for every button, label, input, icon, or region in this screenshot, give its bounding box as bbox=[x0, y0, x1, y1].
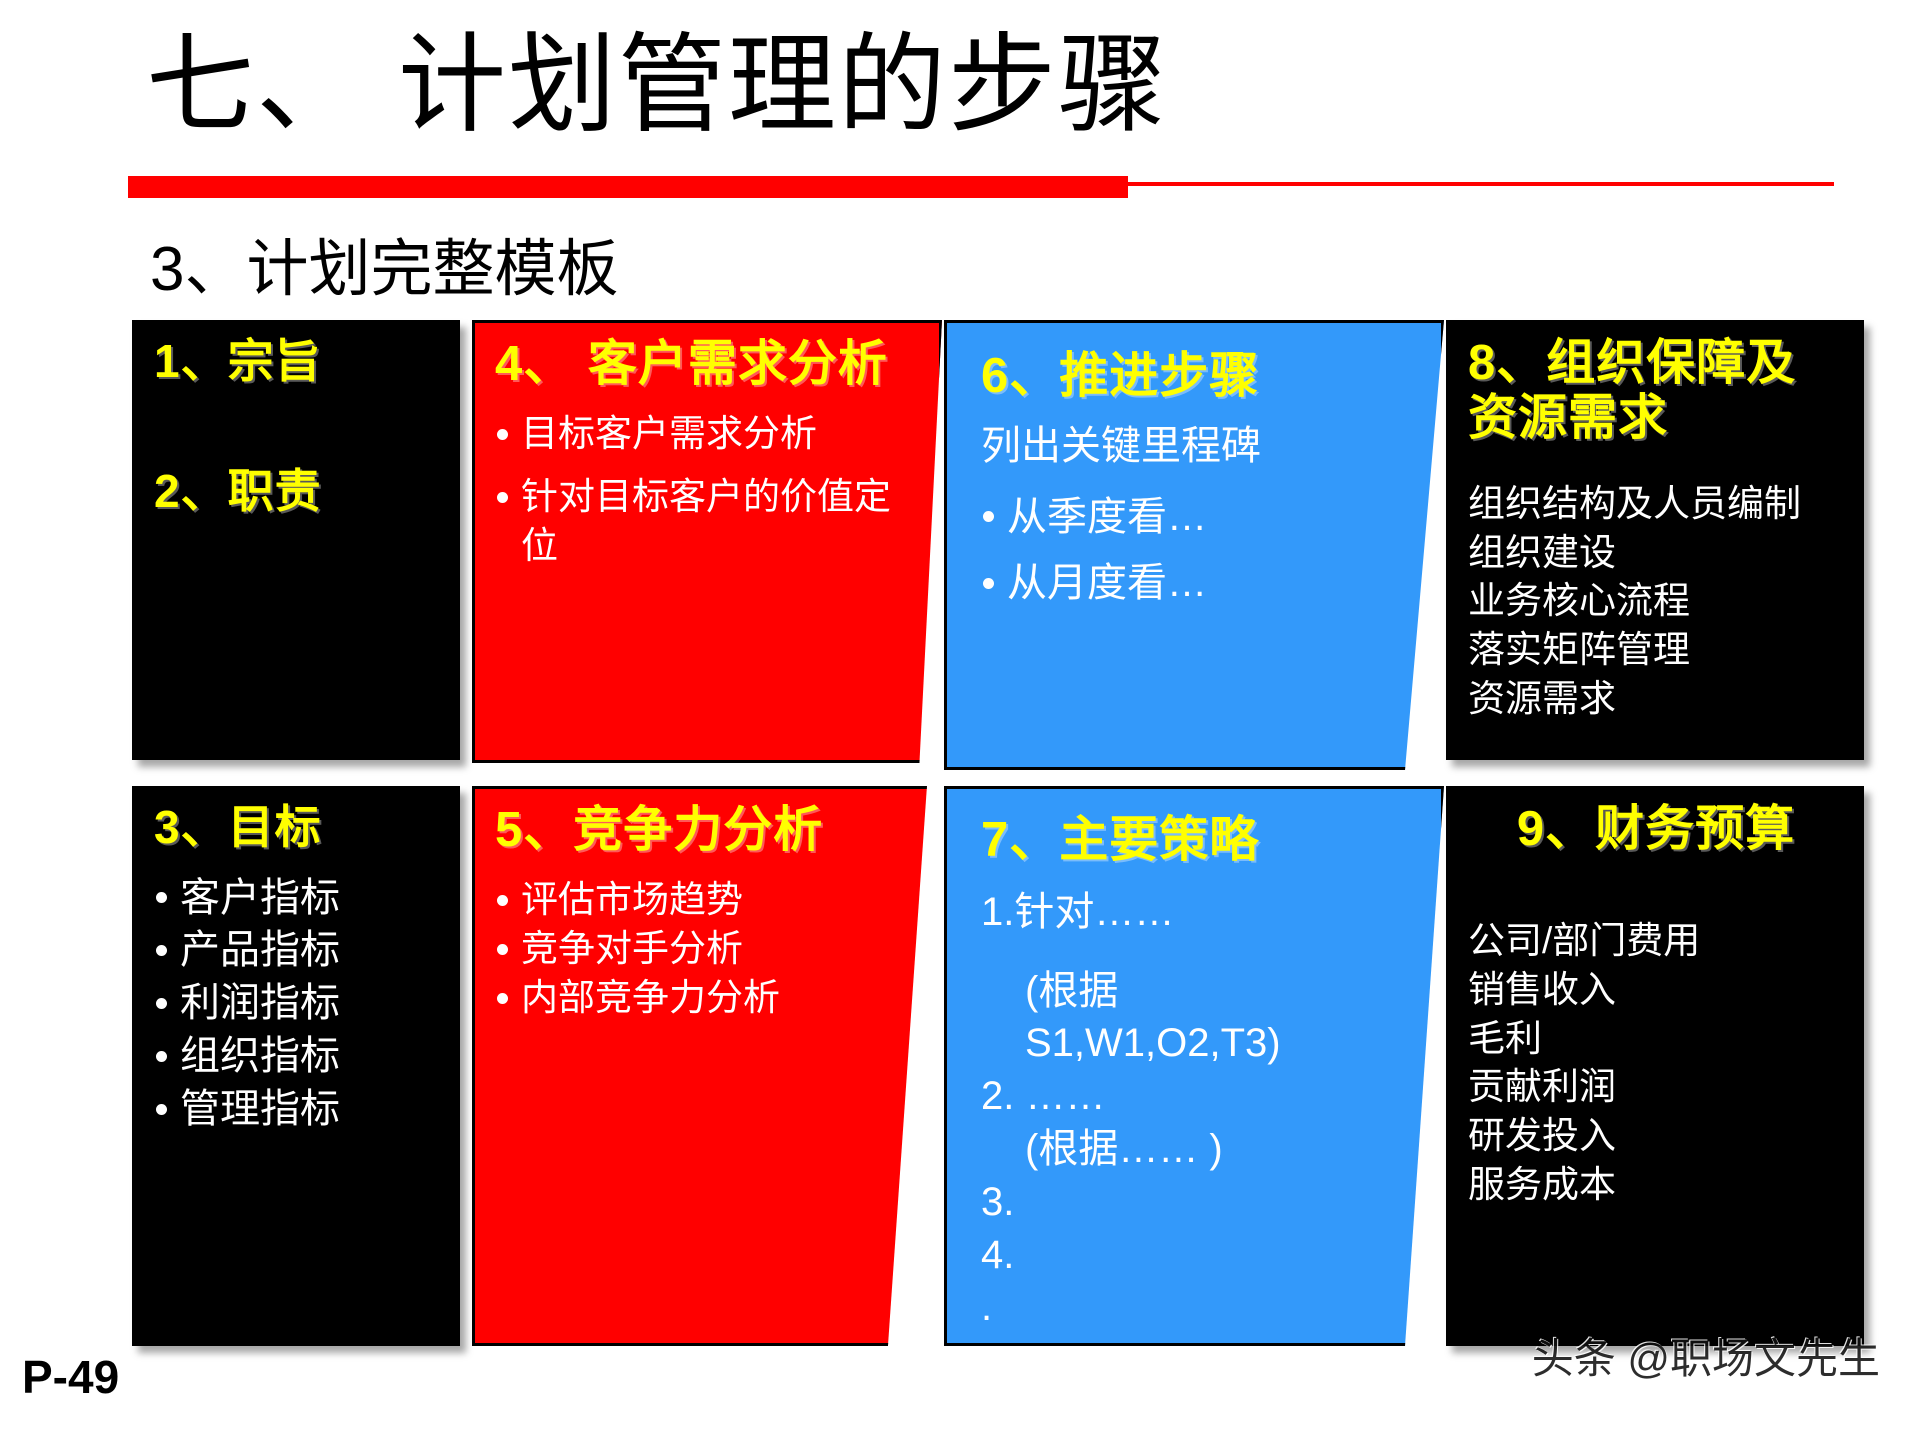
list-item: 从季度看… bbox=[981, 491, 1381, 544]
box-competitiveness-list: 评估市场趋势 竞争对手分析 内部竞争力分析 bbox=[495, 876, 869, 1022]
box-financial-budget[interactable]: 9、财务预算 公司/部门费用 销售收入 毛利 贡献利润 研发投入 服务成本 bbox=[1446, 786, 1864, 1346]
box-competitiveness-content: 5、竞争力分析 评估市场趋势 竞争对手分析 内部竞争力分析 bbox=[475, 789, 939, 1343]
box-competitiveness[interactable]: 5、竞争力分析 评估市场趋势 竞争对手分析 内部竞争力分析 bbox=[472, 786, 942, 1346]
list-item: 内部竞争力分析 bbox=[495, 974, 869, 1023]
box-rollout-steps[interactable]: 6、推进步骤 列出关键里程碑 从季度看… 从月度看… bbox=[944, 320, 1444, 770]
box-heading-3: 3、目标 bbox=[154, 802, 440, 854]
slide-subtitle: 3、计划完整模板 bbox=[150, 218, 618, 308]
spacer bbox=[1468, 857, 1844, 917]
box-rollout-steps-content: 6、推进步骤 列出关键里程碑 从季度看… 从月度看… bbox=[947, 323, 1441, 767]
box-heading-1: 1、宗旨 bbox=[154, 336, 440, 388]
box-customer-demand-list: 目标客户需求分析 针对目标客户的价值定位 bbox=[495, 410, 891, 570]
box-org-resources[interactable]: 8、组织保障及资源需求 组织结构及人员编制 组织建设 业务核心流程 落实矩阵管理… bbox=[1446, 320, 1864, 760]
box-financial-budget-list: 公司/部门费用 销售收入 毛利 贡献利润 研发投入 服务成本 bbox=[1468, 917, 1844, 1210]
list-item: 2. …… bbox=[981, 1070, 1371, 1123]
list-item: 竞争对手分析 bbox=[495, 925, 869, 974]
list-item: 利润指标 bbox=[154, 977, 440, 1030]
spacer bbox=[981, 868, 1371, 886]
list-item: 毛利 bbox=[1468, 1015, 1844, 1064]
box-org-resources-content: 8、组织保障及资源需求 组织结构及人员编制 组织建设 业务核心流程 落实矩阵管理… bbox=[1448, 322, 1862, 758]
box-goals[interactable]: 3、目标 客户指标 产品指标 利润指标 组织指标 管理指标 bbox=[132, 786, 460, 1346]
list-item: 研发投入 bbox=[1468, 1112, 1844, 1161]
list-item: 贡献利润 bbox=[1468, 1063, 1844, 1112]
list-item: 3. bbox=[981, 1176, 1371, 1229]
list-item: 服务成本 bbox=[1468, 1161, 1844, 1210]
list-item: 业务核心流程 bbox=[1468, 577, 1844, 626]
list-item: 针对目标客户的价值定位 bbox=[495, 473, 891, 571]
list-item: 公司/部门费用 bbox=[1468, 917, 1844, 966]
spacer bbox=[495, 858, 869, 876]
box-heading-8: 8、组织保障及资源需求 bbox=[1468, 336, 1844, 446]
box-heading-4: 4、 客户需求分析 bbox=[495, 337, 891, 392]
list-item: 从月度看… bbox=[981, 557, 1381, 610]
list-item: (根据S1,W1,O2,T3) bbox=[981, 965, 1371, 1071]
list-item: 1.针对…… bbox=[981, 886, 1371, 939]
box-customer-demand[interactable]: 4、 客户需求分析 目标客户需求分析 针对目标客户的价值定位 bbox=[472, 320, 942, 763]
spacer bbox=[1468, 446, 1844, 480]
slide-canvas: 七、 计划管理的步骤 3、计划完整模板 1、宗旨 2、职责 3、目标 客户指标 … bbox=[0, 0, 1920, 1440]
spacer bbox=[154, 388, 440, 448]
list-item: 目标客户需求分析 bbox=[495, 410, 891, 459]
box-heading-7: 7、主要策略 bbox=[981, 813, 1371, 868]
list-item: 评估市场趋势 bbox=[495, 876, 869, 925]
box-heading-2: 2、职责 bbox=[154, 466, 440, 518]
box-purpose-duty[interactable]: 1、宗旨 2、职责 bbox=[132, 320, 460, 760]
list-item: 销售收入 bbox=[1468, 966, 1844, 1015]
slide-title: 七、 计划管理的步骤 bbox=[146, 28, 1168, 141]
box-goals-content: 3、目标 客户指标 产品指标 利润指标 组织指标 管理指标 bbox=[134, 788, 458, 1344]
page-number: P-49 bbox=[22, 1350, 119, 1404]
box-goals-list: 客户指标 产品指标 利润指标 组织指标 管理指标 bbox=[154, 872, 440, 1136]
list-item: (根据…… ) bbox=[981, 1123, 1371, 1176]
box-heading-5: 5、竞争力分析 bbox=[495, 803, 869, 858]
box-rollout-list: 从季度看… 从月度看… bbox=[981, 491, 1381, 611]
list-item: 管理指标 bbox=[154, 1083, 440, 1136]
list-item: 资源需求 bbox=[1468, 675, 1844, 724]
list-item: 4. bbox=[981, 1229, 1371, 1282]
list-item: 落实矩阵管理 bbox=[1468, 626, 1844, 675]
spacer bbox=[154, 854, 440, 872]
box-purpose-duty-content: 1、宗旨 2、职责 bbox=[134, 322, 458, 758]
list-item: 组织建设 bbox=[1468, 529, 1844, 578]
box-heading-6: 6、推进步骤 bbox=[981, 349, 1381, 404]
box-main-strategy-list: 1.针对…… (根据S1,W1,O2,T3) 2. …… (根据…… ) 3. … bbox=[981, 886, 1371, 1334]
list-item: . bbox=[981, 1281, 1371, 1334]
list-item: 组织结构及人员编制 bbox=[1468, 480, 1844, 529]
spacer bbox=[495, 392, 891, 410]
watermark-label: 头条 @职场文先生 bbox=[1532, 1325, 1880, 1386]
title-rule-thick bbox=[128, 176, 1128, 198]
spacer bbox=[154, 448, 440, 466]
box-customer-demand-content: 4、 客户需求分析 目标客户需求分析 针对目标客户的价值定位 bbox=[475, 323, 939, 760]
list-item: 客户指标 bbox=[154, 872, 440, 925]
box-main-strategy-content: 7、主要策略 1.针对…… (根据S1,W1,O2,T3) 2. …… (根据…… bbox=[947, 789, 1441, 1343]
box-financial-budget-content: 9、财务预算 公司/部门费用 销售收入 毛利 贡献利润 研发投入 服务成本 bbox=[1448, 788, 1862, 1344]
box-heading-9: 9、财务预算 bbox=[1468, 802, 1844, 857]
list-item: 产品指标 bbox=[154, 924, 440, 977]
list-item: 组织指标 bbox=[154, 1030, 440, 1083]
box-rollout-lead: 列出关键里程碑 bbox=[981, 420, 1381, 473]
box-org-resources-list: 组织结构及人员编制 组织建设 业务核心流程 落实矩阵管理 资源需求 bbox=[1468, 480, 1844, 724]
box-main-strategy[interactable]: 7、主要策略 1.针对…… (根据S1,W1,O2,T3) 2. …… (根据…… bbox=[944, 786, 1444, 1346]
